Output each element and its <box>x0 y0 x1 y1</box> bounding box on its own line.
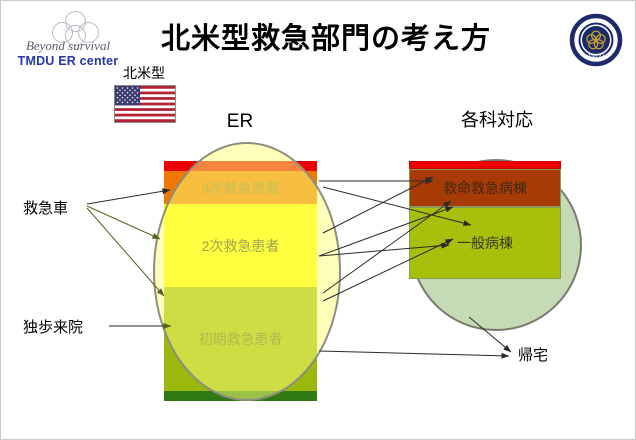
label-walk-in: 独歩来院 <box>23 316 83 337</box>
north-america-flag-block: 北米型 <box>109 63 179 125</box>
ward-band-top-strip <box>409 161 561 169</box>
ward-column: 救命救急病棟 一般病棟 <box>409 161 561 279</box>
er-caption: ER <box>206 111 274 133</box>
label-ambulance: 救急車 <box>23 197 68 218</box>
label-home-discharge: 帰宅 <box>518 344 548 365</box>
four-rings-icon <box>51 11 111 41</box>
tmdu-er-center-logo: Beyond survival TMDU ER center <box>9 9 121 69</box>
svg-text:TMDU: TMDU <box>588 54 605 60</box>
page-title: 北米型救急部門の考え方 <box>111 15 541 57</box>
tmdu-seal-icon: TMDU <box>569 13 623 67</box>
ward-band-general: 一般病棟 <box>409 207 561 279</box>
flag-label: 北米型 <box>109 63 179 83</box>
us-flag-icon <box>114 85 176 123</box>
er-scope-ellipse <box>153 142 341 401</box>
slide-canvas: Beyond survival TMDU ER center 北米型救急部門の考… <box>0 0 636 440</box>
arrow-ambulance-group <box>87 190 170 204</box>
ward-caption: 各科対応 <box>437 106 557 132</box>
brand-tagline: Beyond survival <box>15 38 121 54</box>
ward-band-critical-care: 救命救急病棟 <box>409 169 561 207</box>
